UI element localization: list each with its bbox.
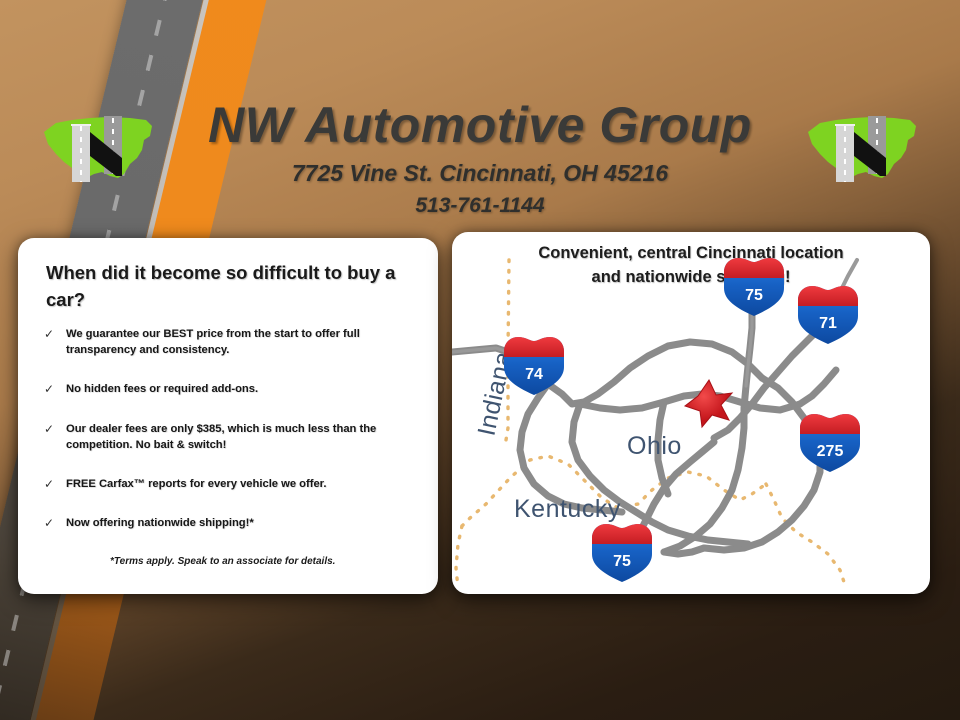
terms-disclaimer: *Terms apply. Speak to an associate for … (110, 556, 335, 567)
value-proposition-panel: When did it become so difficult to buy a… (18, 238, 438, 594)
state-label-kentucky: Kentucky (514, 495, 621, 523)
list-item-label: We guarantee our BEST price from the sta… (66, 326, 416, 358)
svg-text:75: 75 (613, 553, 631, 570)
slide-canvas: NW Automotive Group 7725 Vine St. Cincin… (0, 0, 960, 720)
panel-headline: When did it become so difficult to buy a… (46, 260, 406, 314)
svg-text:74: 74 (525, 366, 543, 383)
list-item-label: No hidden fees or required add-ons. (66, 381, 258, 397)
svg-text:71: 71 (819, 315, 837, 332)
interstate-shield-75-north: 75 (724, 258, 784, 316)
nw-automotive-logo-left (38, 106, 158, 192)
list-item: ✓ Our dealer fees are only $385, which i… (44, 421, 416, 453)
list-item-label: Now offering nationwide shipping!* (66, 515, 254, 531)
list-item: ✓ We guarantee our BEST price from the s… (44, 326, 416, 358)
cincinnati-map: Indiana Ohio Kentucky 74 75 71 (452, 232, 930, 594)
location-map-panel: Convenient, central Cincinnati location … (452, 232, 930, 594)
interstate-shield-75-south: 75 (592, 524, 652, 582)
check-icon: ✓ (44, 421, 54, 437)
nw-automotive-logo-right (802, 106, 922, 192)
svg-text:275: 275 (817, 443, 844, 460)
check-icon: ✓ (44, 476, 54, 492)
state-label-ohio: Ohio (627, 432, 682, 460)
dealership-location-star (685, 380, 732, 427)
svg-text:75: 75 (745, 287, 763, 304)
check-icon: ✓ (44, 381, 54, 397)
benefits-list: ✓ We guarantee our BEST price from the s… (44, 326, 416, 555)
list-item-label: FREE Carfax™ reports for every vehicle w… (66, 476, 327, 492)
check-icon: ✓ (44, 515, 54, 531)
list-item-label: Our dealer fees are only $385, which is … (66, 421, 416, 453)
check-icon: ✓ (44, 326, 54, 342)
list-item: ✓ FREE Carfax™ reports for every vehicle… (44, 476, 416, 492)
interstate-shield-71: 71 (798, 286, 858, 344)
road-network (452, 290, 836, 554)
brand-phone: 513-761-1144 (0, 194, 960, 218)
list-item: ✓ No hidden fees or required add-ons. (44, 381, 416, 397)
list-item: ✓ Now offering nationwide shipping!* (44, 515, 416, 531)
interstate-shield-275: 275 (800, 414, 860, 472)
